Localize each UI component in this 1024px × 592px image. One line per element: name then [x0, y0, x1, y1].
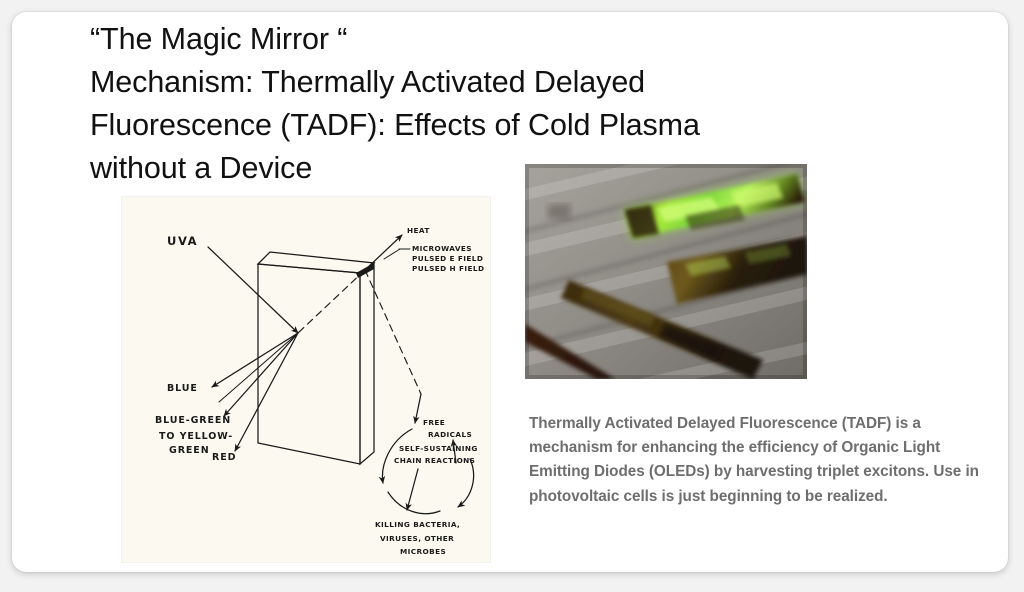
label-pulsed-h-field: PULSED H FIELD [412, 264, 484, 273]
heat-incident-ray [365, 235, 402, 270]
dashed-incoming-ray [298, 270, 365, 333]
tadf-caption: Thermally Activated Delayed Fluorescence… [529, 412, 999, 509]
label-blue-green-3: GREEN [169, 445, 210, 456]
chain-reaction-arc-bottom [388, 492, 440, 514]
upper-left-streak [547, 204, 571, 220]
glowing-strips-photograph [525, 164, 807, 379]
label-free: FREE [423, 418, 445, 427]
label-pulsed-e-field: PULSED E FIELD [412, 254, 483, 263]
label-radicals: RADICALS [428, 430, 472, 439]
hand-drawn-mechanism-diagram: UVA HEAT MICROWAVES PULSED E FIELD PULSE… [122, 197, 490, 562]
blue-emission-ray [212, 333, 298, 387]
label-blue-green-2: TO YELLOW- [159, 431, 233, 442]
red-emission-ray [235, 333, 298, 451]
label-blue: BLUE [167, 383, 198, 394]
free-radicals-ray [415, 394, 421, 423]
uva-incident-ray [208, 247, 298, 333]
label-killing-2: VIRUSES, OTHER [380, 534, 454, 543]
slide-card: “The Magic Mirror “ Mechanism: Thermally… [12, 12, 1008, 572]
label-uva: UVA [167, 234, 198, 248]
label-red: RED [212, 452, 236, 463]
chain-reaction-arc-right [458, 459, 474, 507]
label-microwaves: MICROWAVES [412, 244, 472, 253]
killing-arrow [407, 469, 418, 510]
label-blue-green-1: BLUE-GREEN [155, 415, 231, 426]
label-killing-3: MICROBES [400, 547, 446, 556]
label-chain-reactions: CHAIN REACTIONS [394, 456, 475, 465]
label-heat: HEAT [407, 226, 430, 235]
label-self-sustaining: SELF-SUSTAINING [399, 444, 478, 453]
label-killing-1: KILLING BACTERIA, [375, 520, 460, 529]
